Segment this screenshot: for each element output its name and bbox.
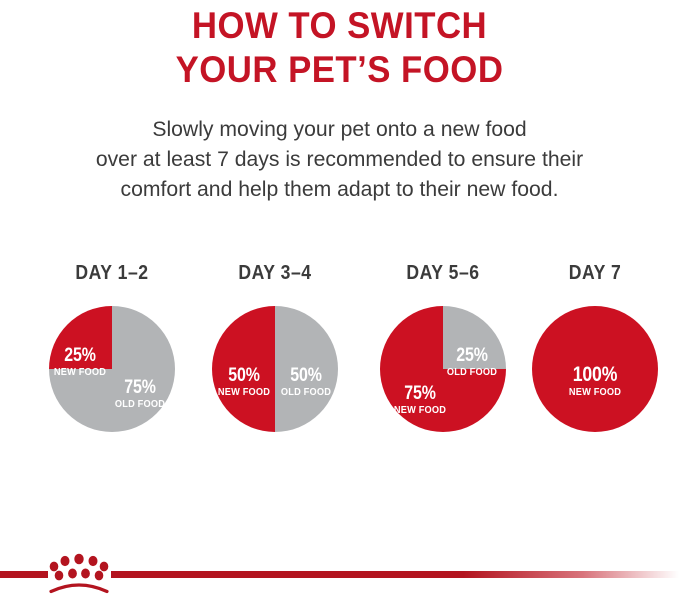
pie-slice-old-food xyxy=(275,306,338,432)
pie-chart-2: DAY 3–450%NEW FOOD50%OLD FOOD xyxy=(195,262,355,442)
pie-day-label-1: DAY 1–2 xyxy=(42,262,183,285)
pie-graphic-4: 100%NEW FOOD xyxy=(532,306,658,432)
pie-day-label-2: DAY 3–4 xyxy=(205,262,346,285)
intro-line-3: comfort and help them adapt to their new… xyxy=(5,174,674,204)
pie-slice-old-food xyxy=(443,306,506,369)
pie-slice-new-food xyxy=(49,306,112,369)
pie-day-label-4: DAY 7 xyxy=(525,262,666,285)
royal-canin-crown-logo xyxy=(46,548,112,594)
page-title: HOW TO SWITCH YOUR PET’S FOOD xyxy=(0,4,679,92)
intro-line-2: over at least 7 days is recommended to e… xyxy=(5,144,674,174)
pie-day-label-3: DAY 5–6 xyxy=(373,262,514,285)
pie-chart-3: DAY 5–675%NEW FOOD25%OLD FOOD xyxy=(363,262,523,442)
intro-line-1: Slowly moving your pet onto a new food xyxy=(5,114,674,144)
pie-slice-new-food xyxy=(212,306,275,432)
footer xyxy=(0,548,679,594)
pie-graphic-3: 75%NEW FOOD25%OLD FOOD xyxy=(380,306,506,432)
pie-graphic-1: 25%NEW FOOD75%OLD FOOD xyxy=(49,306,175,432)
pie-chart-1: DAY 1–225%NEW FOOD75%OLD FOOD xyxy=(32,262,192,442)
footer-rule-right xyxy=(111,571,679,578)
page-title-line-1: HOW TO SWITCH xyxy=(20,4,658,48)
pie-slice-new-food xyxy=(532,306,658,432)
pie-chart-4: DAY 7100%NEW FOOD xyxy=(515,262,675,442)
intro-paragraph: Slowly moving your pet onto a new food o… xyxy=(0,114,679,204)
pie-chart-row: DAY 1–225%NEW FOOD75%OLD FOODDAY 3–450%N… xyxy=(0,262,679,442)
footer-rule-left xyxy=(0,571,48,578)
pie-graphic-2: 50%NEW FOOD50%OLD FOOD xyxy=(212,306,338,432)
page-title-line-2: YOUR PET’S FOOD xyxy=(20,48,658,92)
